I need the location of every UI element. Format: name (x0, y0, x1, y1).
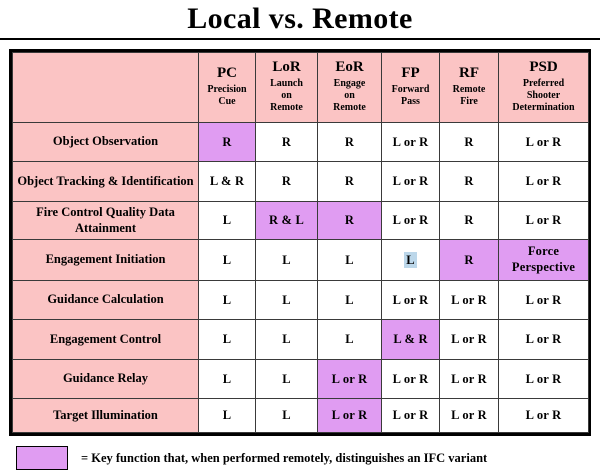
matrix-cell: L (199, 320, 256, 360)
matrix-cell: L or R (499, 202, 589, 240)
matrix-cell: L (318, 281, 382, 320)
matrix-cell: L (256, 399, 318, 433)
matrix-cell: L or R (499, 123, 589, 162)
matrix-cell: L (199, 399, 256, 433)
column-header-eor: EoREngageonRemote (318, 53, 382, 123)
matrix-cell: L (318, 320, 382, 360)
matrix-cell: L or R (499, 320, 589, 360)
table-row: Object Tracking & IdentificationL & RRRL… (13, 162, 589, 202)
matrix-cell: L (382, 240, 440, 281)
legend: = Key function that, when performed remo… (16, 445, 600, 471)
row-header-label: Guidance Relay (13, 360, 199, 399)
column-header-full: LaunchonRemote (258, 78, 315, 113)
table-row: Fire Control Quality Data AttainmentLR &… (13, 202, 589, 240)
matrix-cell: R (318, 123, 382, 162)
matrix-cell: L or R (440, 360, 499, 399)
matrix-cell: L or R (318, 360, 382, 399)
matrix-table-container: PCPrecisionCueLoRLaunchonRemoteEoREngage… (9, 49, 591, 436)
matrix-cell: L or R (499, 162, 589, 202)
matrix-cell-value: ForcePerspective (512, 244, 575, 274)
table-row: Engagement InitiationLLLLRForcePerspecti… (13, 240, 589, 281)
matrix-cell: R (440, 240, 499, 281)
matrix-cell: L or R (382, 399, 440, 433)
matrix-cell: L (256, 240, 318, 281)
matrix-cell: L or R (382, 123, 440, 162)
column-header-pc: PCPrecisionCue (199, 53, 256, 123)
matrix-cell: L or R (382, 281, 440, 320)
column-header-fp: FPForwardPass (382, 53, 440, 123)
column-header-full: PreferredShooterDetermination (501, 78, 586, 113)
column-header-full: RemoteFire (442, 84, 496, 108)
matrix-cell: L or R (440, 399, 499, 433)
matrix-cell: L or R (382, 162, 440, 202)
matrix-cell: L or R (499, 281, 589, 320)
column-header-rf: RFRemoteFire (440, 53, 499, 123)
row-header-label: Target Illumination (13, 399, 199, 433)
legend-color-swatch (16, 446, 68, 470)
matrix-cell: L or R (499, 399, 589, 433)
page-title: Local vs. Remote (187, 4, 413, 34)
column-header-full: EngageonRemote (320, 78, 379, 113)
matrix-cell: ForcePerspective (499, 240, 589, 281)
matrix-cell: L (256, 281, 318, 320)
matrix-cell: R (318, 162, 382, 202)
matrix-cell: L or R (382, 360, 440, 399)
column-header-full: ForwardPass (384, 84, 437, 108)
table-row: Guidance CalculationLLLL or RL or RL or … (13, 281, 589, 320)
matrix-cell: R (318, 202, 382, 240)
matrix-cell: R (256, 123, 318, 162)
matrix-cell: R (440, 162, 499, 202)
matrix-cell: L or R (440, 320, 499, 360)
matrix-cell: L or R (382, 202, 440, 240)
column-header-psd: PSDPreferredShooterDetermination (499, 53, 589, 123)
matrix-cell: L or R (440, 281, 499, 320)
matrix-cell: L & R (382, 320, 440, 360)
table-body: Object ObservationRRRL or RRL or RObject… (13, 123, 589, 433)
column-header-abbr: PSD (501, 60, 586, 76)
column-header-abbr: RF (442, 66, 496, 82)
row-header-label: Engagement Initiation (13, 240, 199, 281)
column-header-full: PrecisionCue (201, 84, 253, 108)
matrix-cell: L or R (318, 399, 382, 433)
column-header-abbr: PC (201, 66, 253, 82)
matrix-cell: L (199, 240, 256, 281)
row-header-label: Fire Control Quality Data Attainment (13, 202, 199, 240)
matrix-cell: L (318, 240, 382, 281)
matrix-cell: L (199, 281, 256, 320)
row-header-label: Object Observation (13, 123, 199, 162)
table-row: Engagement ControlLLLL & RL or RL or R (13, 320, 589, 360)
matrix-cell: L & R (199, 162, 256, 202)
matrix-cell: L (256, 360, 318, 399)
matrix-cell: L (199, 202, 256, 240)
header-corner-cell (13, 53, 199, 123)
selected-text: L (404, 252, 417, 268)
table-row: Target IlluminationLLL or RL or RL or RL… (13, 399, 589, 433)
matrix-cell: R (256, 162, 318, 202)
title-bar: Local vs. Remote (0, 0, 600, 40)
local-vs-remote-matrix: PCPrecisionCueLoRLaunchonRemoteEoREngage… (12, 52, 589, 433)
row-header-label: Object Tracking & Identification (13, 162, 199, 202)
matrix-cell: L (256, 320, 318, 360)
table-head: PCPrecisionCueLoRLaunchonRemoteEoREngage… (13, 53, 589, 123)
column-header-lor: LoRLaunchonRemote (256, 53, 318, 123)
header-row: PCPrecisionCueLoRLaunchonRemoteEoREngage… (13, 53, 589, 123)
matrix-cell: R (199, 123, 256, 162)
matrix-cell: R & L (256, 202, 318, 240)
row-header-label: Engagement Control (13, 320, 199, 360)
table-row: Object ObservationRRRL or RRL or R (13, 123, 589, 162)
column-header-abbr: EoR (320, 60, 379, 76)
matrix-cell: R (440, 123, 499, 162)
column-header-abbr: LoR (258, 60, 315, 76)
legend-label: = Key function that, when performed remo… (81, 451, 487, 466)
column-header-abbr: FP (384, 66, 437, 82)
matrix-cell: L or R (499, 360, 589, 399)
matrix-cell: R (440, 202, 499, 240)
matrix-cell: L (199, 360, 256, 399)
table-row: Guidance RelayLLL or RL or RL or RL or R (13, 360, 589, 399)
row-header-label: Guidance Calculation (13, 281, 199, 320)
